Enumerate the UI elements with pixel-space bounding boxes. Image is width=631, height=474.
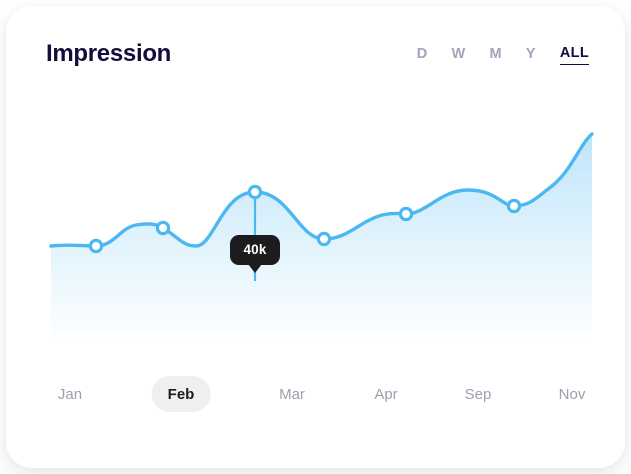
x-axis: Jan Feb Mar Apr Sep Nov [6, 376, 625, 418]
chart-tooltip: 40k [230, 235, 280, 265]
card-header: Impression D W M Y ALL [6, 6, 625, 102]
page-title: Impression [46, 40, 171, 68]
range-tab-d[interactable]: D [417, 44, 428, 65]
x-tick-feb[interactable]: Feb [152, 376, 211, 412]
impression-chart-card: Impression D W M Y ALL 40 [6, 6, 625, 468]
chart-marker[interactable] [400, 208, 411, 219]
chart-marker[interactable] [508, 200, 519, 211]
x-tick-apr[interactable]: Apr [358, 376, 413, 412]
range-tab-y[interactable]: Y [526, 44, 536, 65]
chart-marker[interactable] [249, 186, 260, 197]
range-selector: D W M Y ALL [417, 43, 589, 65]
chart-marker[interactable] [90, 240, 101, 251]
chart-marker[interactable] [318, 233, 329, 244]
chart-plot-area[interactable]: 40k [6, 102, 625, 364]
x-tick-sep[interactable]: Sep [449, 376, 508, 412]
impression-area-chart [6, 102, 625, 364]
tooltip-arrow-icon [248, 264, 262, 273]
x-tick-nov[interactable]: Nov [543, 376, 602, 412]
x-tick-mar[interactable]: Mar [263, 376, 321, 412]
chart-marker[interactable] [157, 222, 168, 233]
range-tab-m[interactable]: M [490, 44, 502, 65]
tooltip-value: 40k [243, 243, 266, 257]
x-tick-jan[interactable]: Jan [42, 376, 98, 412]
range-tab-w[interactable]: W [452, 44, 466, 65]
range-tab-all[interactable]: ALL [560, 43, 589, 65]
